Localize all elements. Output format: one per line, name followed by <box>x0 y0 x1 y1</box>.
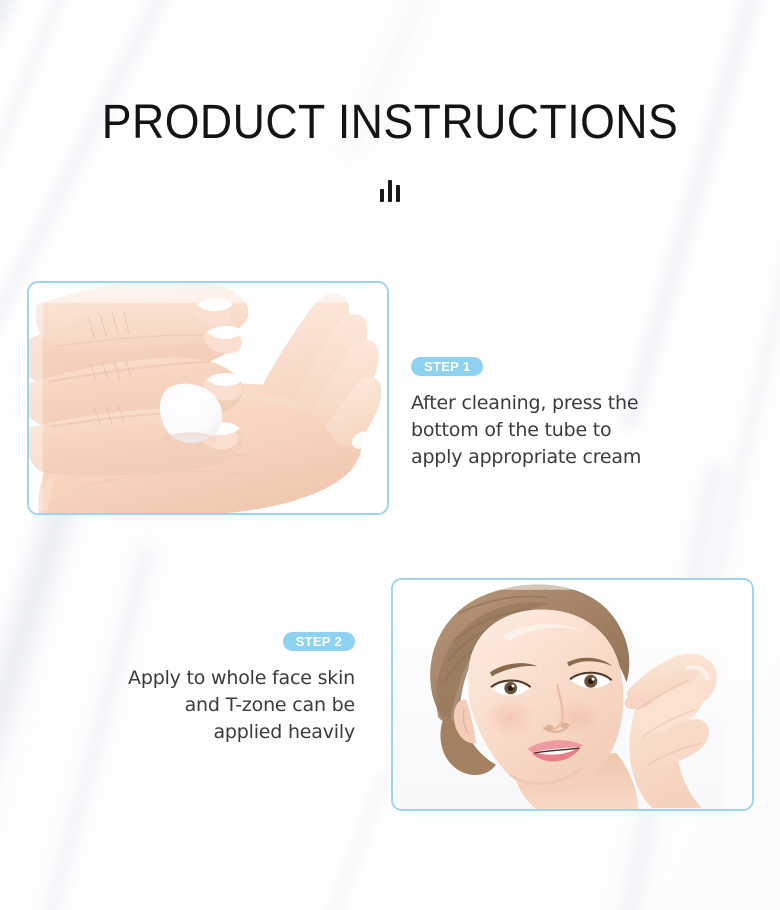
step-2-line-3: applied heavily <box>40 719 355 746</box>
page-header: PRODUCT INSTRUCTIONS <box>0 98 780 202</box>
three-bars-icon <box>0 176 780 202</box>
woman-face-photo <box>391 578 754 811</box>
step-1-text-block: STEP 1 After cleaning, press the bottom … <box>411 357 741 471</box>
hand-applying-cream-photo <box>27 281 389 515</box>
step-1-line-3: apply appropriate cream <box>411 444 741 471</box>
page-title: PRODUCT INSTRUCTIONS <box>27 98 752 148</box>
step-2-line-1: Apply to whole face skin <box>40 665 355 692</box>
step-1-badge: STEP 1 <box>411 357 483 376</box>
step-2-text-block: STEP 2 Apply to whole face skin and T-zo… <box>40 632 355 746</box>
step-1-line-2: bottom of the tube to <box>411 417 741 444</box>
step-row-2: STEP 2 Apply to whole face skin and T-zo… <box>0 578 780 812</box>
step-2-description: Apply to whole face skin and T-zone can … <box>40 665 355 746</box>
step-2-line-2: and T-zone can be <box>40 692 355 719</box>
step-1-line-1: After cleaning, press the <box>411 390 741 417</box>
step-2-badge: STEP 2 <box>283 632 355 651</box>
step-row-1: STEP 1 After cleaning, press the bottom … <box>0 281 780 515</box>
step-1-description: After cleaning, press the bottom of the … <box>411 390 741 471</box>
product-instructions-page: PRODUCT INSTRUCTIONS <box>0 0 780 910</box>
